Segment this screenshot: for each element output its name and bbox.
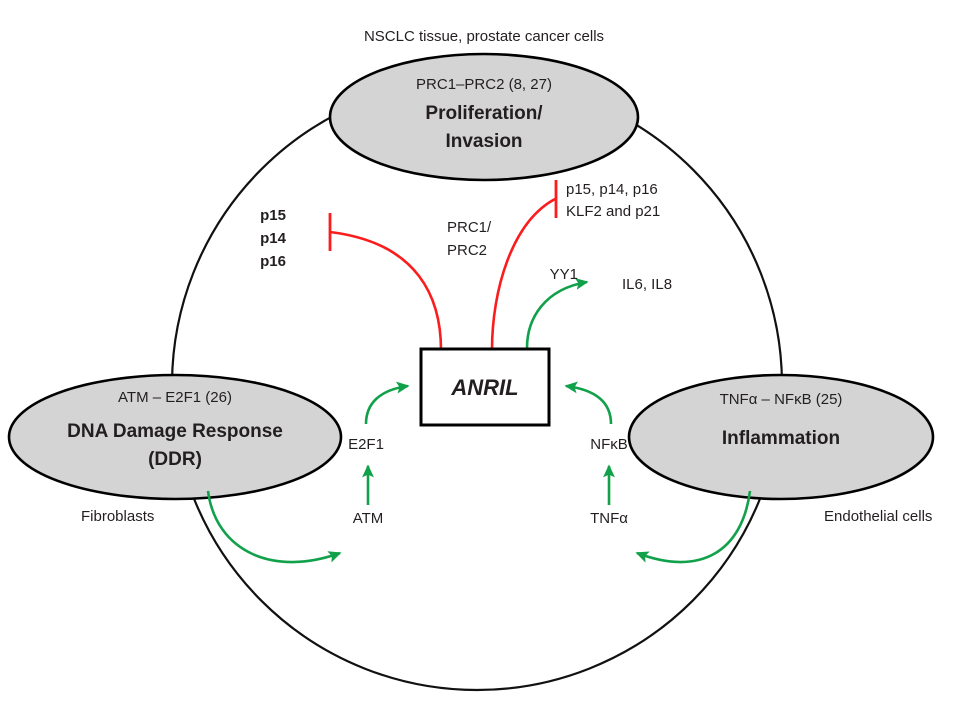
- edge-inhibition-left-target-p14: p14: [260, 230, 287, 247]
- edge-activation-nfkb-to-anril: [566, 386, 611, 424]
- context-label-left: Fibroblasts: [81, 508, 154, 525]
- edge-activation-yy1-target-label: IL6, IL8: [622, 276, 672, 293]
- edge-inhibition-left: [330, 213, 441, 350]
- edge-activation-e2f1-line: [366, 386, 408, 424]
- pathway-diagram-figure: PRC1–PRC2 (8, 27) Proliferation/ Invasio…: [0, 0, 954, 714]
- edge-activation-e2f1-to-anril: [366, 386, 408, 424]
- edge-inhibition-right-mediator-line1: PRC1/: [447, 219, 492, 236]
- edge-inhibition-right: [492, 180, 556, 350]
- node-anril[interactable]: ANRIL: [421, 349, 549, 425]
- edge-inhibition-left-target-p15: p15: [260, 207, 286, 224]
- node-dna-damage-response-title-line1: DNA Damage Response: [67, 421, 283, 442]
- edge-inhibition-right-mediator-line2: PRC2: [447, 242, 487, 259]
- node-anril-label: ANRIL: [450, 375, 518, 400]
- node-dna-damage-response-sublabel: ATM – E2F1 (26): [118, 389, 232, 406]
- edge-inhibition-left-line: [330, 232, 441, 350]
- node-inflammation-title-line1: Inflammation: [722, 428, 840, 449]
- edge-activation-ddr-to-atm-line: [208, 491, 340, 562]
- edge-inhibition-right-line: [492, 199, 555, 350]
- context-label-top: NSCLC tissue, prostate cancer cells: [364, 28, 604, 45]
- node-dna-damage-response[interactable]: ATM – E2F1 (26) DNA Damage Response (DDR…: [9, 375, 341, 499]
- node-proliferation-invasion[interactable]: PRC1–PRC2 (8, 27) Proliferation/ Invasio…: [330, 54, 638, 180]
- edge-activation-ddr-to-atm: [208, 491, 340, 562]
- pathway-diagram-canvas: PRC1–PRC2 (8, 27) Proliferation/ Invasio…: [0, 0, 954, 714]
- edge-inhibition-right-target-line1: p15, p14, p16: [566, 181, 658, 198]
- edge-activation-atm-label: ATM: [353, 510, 384, 527]
- node-inflammation-sublabel: TNFα – NFκB (25): [720, 391, 843, 408]
- edge-activation-nfkb-label: NFκB: [590, 436, 628, 453]
- edge-activation-yy1: [527, 282, 587, 348]
- edge-activation-e2f1-label: E2F1: [348, 436, 384, 453]
- node-inflammation[interactable]: TNFα – NFκB (25) Inflammation: [629, 375, 933, 499]
- node-proliferation-invasion-sublabel: PRC1–PRC2 (8, 27): [416, 76, 552, 93]
- edge-inhibition-right-target-line2: KLF2 and p21: [566, 203, 660, 220]
- edge-activation-nfkb-line: [566, 386, 611, 424]
- context-label-right: Endothelial cells: [824, 508, 932, 525]
- edge-activation-yy1-mediator-label: YY1: [550, 266, 578, 283]
- edge-activation-tnfa-label: TNFα: [590, 510, 628, 527]
- edge-inhibition-left-target-p16: p16: [260, 253, 286, 270]
- node-dna-damage-response-title-line2: (DDR): [148, 449, 202, 470]
- edge-activation-yy1-line: [527, 282, 587, 348]
- node-proliferation-invasion-title-line1: Proliferation/: [425, 103, 543, 124]
- node-proliferation-invasion-title-line2: Invasion: [445, 131, 522, 152]
